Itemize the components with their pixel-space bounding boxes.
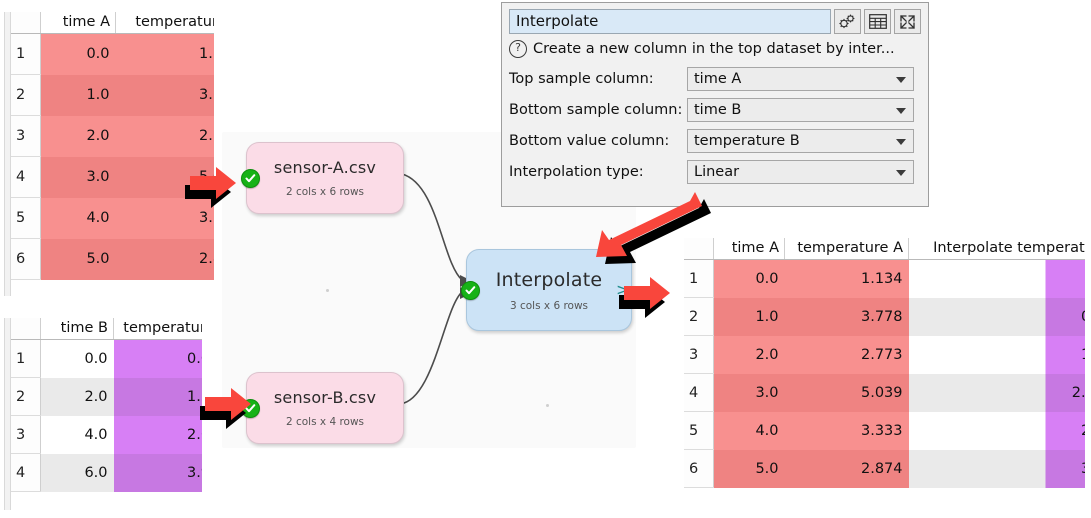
table-b-left-rail[interactable] <box>4 318 11 510</box>
field-label: Interpolation type: <box>509 164 687 180</box>
dialog-description: Create a new column in the top dataset b… <box>533 41 895 57</box>
table-row[interactable]: 1 0.0 0.000 <box>11 340 202 378</box>
expand-fullscreen-icon[interactable] <box>894 9 921 34</box>
grid-glyph <box>869 14 887 29</box>
table-row[interactable]: 2 1.0 3.778 <box>11 75 214 116</box>
table-result[interactable]: time A temperature A Interpolate tempera… <box>684 238 1085 516</box>
cell-time-a[interactable]: 3.0 <box>714 374 785 412</box>
cell-time-a[interactable]: 1.0 <box>41 75 116 116</box>
cell-time-a[interactable]: 1.0 <box>714 298 785 336</box>
annotation-arrow-to-result-table <box>622 274 692 326</box>
table-a-body: 1 0.0 1.134 2 1.0 3.778 3 2.0 2.773 4 3.… <box>11 34 214 280</box>
node-interpolate-status-check-icon[interactable] <box>461 281 480 300</box>
table-a[interactable]: time A temperature A 1 0.0 1.134 2 1.0 3… <box>11 12 214 297</box>
table-row[interactable]: 3 2.0 2.773 1.334 <box>684 336 1085 374</box>
node-sensor-a[interactable]: sensor-A.csv 2 cols x 6 rows <box>246 142 404 214</box>
node-interpolate-subtitle: 3 cols x 6 rows <box>510 300 588 312</box>
cell-time-b[interactable]: 2.0 <box>41 378 114 416</box>
field-label: Bottom sample column: <box>509 102 687 118</box>
cell-temperature-b[interactable]: 3.931 <box>114 454 203 492</box>
interpolate-properties-dialog[interactable]: Interpolate <box>501 2 929 207</box>
row-number[interactable]: 5 <box>11 198 41 239</box>
row-number[interactable]: 3 <box>11 416 41 454</box>
table-row[interactable]: 3 2.0 2.773 <box>11 116 214 157</box>
table-row[interactable]: 5 4.0 3.333 <box>11 198 214 239</box>
table-row[interactable]: 6 5.0 2.874 <box>11 239 214 280</box>
cell-interpolate-temperature-b[interactable]: 2.697 <box>909 412 1086 450</box>
table-grid-icon[interactable] <box>864 9 891 34</box>
table-row[interactable]: 6 5.0 2.874 3.314 <box>684 450 1085 488</box>
table-result-col-interpolate-temperature-b[interactable]: Interpolate temperature B <box>909 238 1086 260</box>
table-b-col-temperature-b[interactable]: temperature B <box>114 318 203 340</box>
cell-time-a[interactable]: 4.0 <box>41 198 116 239</box>
cell-time-a[interactable]: 4.0 <box>714 412 785 450</box>
table-row[interactable]: 2 2.0 1.334 <box>11 378 202 416</box>
row-number[interactable]: 1 <box>11 340 41 378</box>
table-b-header-row: time B temperature B <box>11 318 202 340</box>
gear-glyph <box>839 14 856 29</box>
table-row[interactable]: 4 3.0 5.039 <box>11 157 214 198</box>
bottom-value-column-select[interactable]: temperature B <box>687 129 914 153</box>
help-question-icon[interactable]: ? <box>509 40 527 58</box>
table-result-col-temperature-a[interactable]: temperature A <box>785 238 909 260</box>
interpolation-type-select[interactable]: Linear <box>687 160 914 184</box>
cell-temperature-a[interactable]: 2.773 <box>116 116 215 157</box>
cell-time-a[interactable]: 2.0 <box>714 336 785 374</box>
chevron-down-icon <box>896 139 906 145</box>
chevron-down-icon <box>896 170 906 176</box>
table-result-header-row: time A temperature A Interpolate tempera… <box>684 238 1085 260</box>
node-sensor-b-subtitle: 2 cols x 4 rows <box>286 416 364 428</box>
cell-temperature-b[interactable]: 2.697 <box>114 416 203 454</box>
cell-time-a[interactable]: 0.0 <box>714 260 785 298</box>
table-row[interactable]: 1 0.0 1.134 0 <box>684 260 1085 298</box>
field-label: Bottom value column: <box>509 133 687 149</box>
node-sensor-b-title: sensor-B.csv <box>274 388 376 407</box>
cell-interpolate-temperature-b[interactable]: 1.334 <box>909 336 1086 374</box>
annotation-arrow-dialog-to-interpolate <box>580 190 720 280</box>
cell-interpolate-temperature-b[interactable]: 0 <box>909 260 1086 298</box>
table-row[interactable]: 3 4.0 2.697 <box>11 416 202 454</box>
cell-temperature-b[interactable]: 1.334 <box>114 378 203 416</box>
row-number[interactable]: 4 <box>11 454 41 492</box>
cell-time-a[interactable]: 0.0 <box>41 34 116 75</box>
row-number[interactable]: 5 <box>684 412 714 450</box>
cell-temperature-a[interactable]: 2.874 <box>116 239 215 280</box>
cell-time-b[interactable]: 6.0 <box>41 454 114 492</box>
operation-name-input[interactable]: Interpolate <box>509 9 831 34</box>
node-sensor-a-title: sensor-A.csv <box>274 158 376 177</box>
table-a-col-time-a[interactable]: time A <box>41 12 116 34</box>
field-label: Top sample column: <box>509 71 687 87</box>
bottom-sample-column-select[interactable]: time B <box>687 98 914 122</box>
row-number[interactable]: 6 <box>684 450 714 488</box>
cell-interpolate-temperature-b[interactable]: 0.667 <box>909 298 1086 336</box>
row-number[interactable]: 4 <box>11 157 41 198</box>
field-bottom-sample-column: Bottom sample column: time B <box>509 98 921 122</box>
table-a-header-row: time A temperature A <box>11 12 214 34</box>
table-row[interactable]: 5 4.0 3.333 2.697 <box>684 412 1085 450</box>
settings-gears-icon[interactable] <box>834 9 861 34</box>
row-number[interactable]: 3 <box>684 336 714 374</box>
cell-temperature-b[interactable]: 0.000 <box>114 340 203 378</box>
cell-temperature-a[interactable]: 2.773 <box>785 336 909 374</box>
cell-time-b[interactable]: 4.0 <box>41 416 114 454</box>
cell-temperature-a[interactable]: 3.333 <box>785 412 909 450</box>
cell-time-a[interactable]: 3.0 <box>41 157 116 198</box>
cell-time-a[interactable]: 5.0 <box>714 450 785 488</box>
cell-temperature-a[interactable]: 3.778 <box>116 75 215 116</box>
table-b-corner[interactable] <box>11 318 41 340</box>
annotation-arrow-to-sensor-a <box>188 164 258 216</box>
row-number[interactable]: 6 <box>11 239 41 280</box>
cell-interpolate-temperature-b[interactable]: 3.314 <box>909 450 1086 488</box>
table-result-col-time-a[interactable]: time A <box>714 238 785 260</box>
top-sample-column-select[interactable]: time A <box>687 67 914 91</box>
cell-time-a[interactable]: 2.0 <box>41 116 116 157</box>
table-a-left-rail[interactable] <box>4 12 11 296</box>
chevron-down-icon <box>896 77 906 83</box>
row-number[interactable]: 2 <box>11 378 41 416</box>
dialog-top-row: Interpolate <box>509 9 921 34</box>
dialog-help-row: ? Create a new column in the top dataset… <box>509 38 921 60</box>
cell-time-a[interactable]: 5.0 <box>41 239 116 280</box>
table-b[interactable]: time B temperature B 1 0.0 0.000 2 2.0 1… <box>11 318 202 511</box>
field-interpolation-type: Interpolation type: Linear <box>509 160 921 184</box>
cell-temperature-a[interactable]: 5.039 <box>785 374 909 412</box>
table-b-body: 1 0.0 0.000 2 2.0 1.334 3 4.0 2.697 4 6.… <box>11 340 202 492</box>
node-sensor-a-subtitle: 2 cols x 6 rows <box>286 186 364 198</box>
table-a-corner[interactable] <box>11 12 41 34</box>
table-row[interactable]: 1 0.0 1.134 <box>11 34 214 75</box>
cell-temperature-a[interactable]: 3.778 <box>785 298 909 336</box>
table-result-body: 1 0.0 1.134 0 2 1.0 3.778 0.667 3 2.0 2.… <box>684 260 1085 488</box>
cell-time-b[interactable]: 0.0 <box>41 340 114 378</box>
field-top-sample-column: Top sample column: time A <box>509 67 921 91</box>
table-row[interactable]: 4 6.0 3.931 <box>11 454 202 492</box>
cell-interpolate-temperature-b[interactable]: 2.0155 <box>909 374 1086 412</box>
field-bottom-value-column: Bottom value column: temperature B <box>509 129 921 153</box>
row-number[interactable]: 4 <box>684 374 714 412</box>
chevron-down-icon <box>896 108 906 114</box>
row-number[interactable]: 2 <box>11 75 41 116</box>
row-number[interactable]: 1 <box>11 34 41 75</box>
cell-temperature-a[interactable]: 1.134 <box>785 260 909 298</box>
cell-temperature-a[interactable]: 1.134 <box>116 34 215 75</box>
table-b-col-time-b[interactable]: time B <box>41 318 114 340</box>
expand-glyph <box>899 14 916 30</box>
annotation-arrow-to-sensor-b <box>203 385 273 437</box>
table-row[interactable]: 2 1.0 3.778 0.667 <box>684 298 1085 336</box>
table-a-col-temperature-a[interactable]: temperature A <box>116 12 215 34</box>
table-row[interactable]: 4 3.0 5.039 2.0155 <box>684 374 1085 412</box>
row-number[interactable]: 3 <box>11 116 41 157</box>
cell-temperature-a[interactable]: 2.874 <box>785 450 909 488</box>
